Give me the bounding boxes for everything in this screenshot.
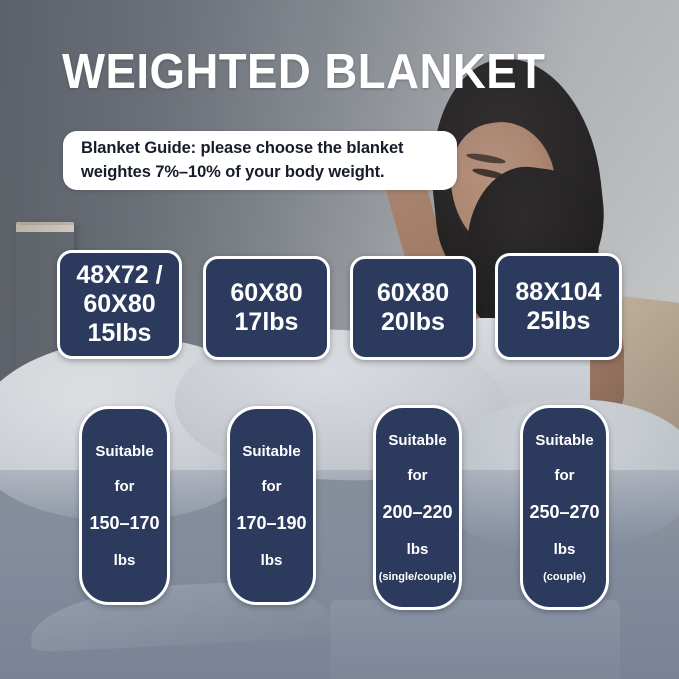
size-card-3: 60X80 20lbs: [350, 256, 476, 360]
size-card-1: 48X72 / 60X80 15lbs: [57, 250, 182, 359]
pill-2-range: 170–190: [236, 513, 306, 534]
pill-1-line1: Suitable: [95, 443, 153, 460]
pill-4-range: 250–270: [529, 502, 599, 523]
pill-3-line1: Suitable: [388, 432, 446, 449]
size-card-2-line2: 17lbs: [235, 308, 299, 337]
pill-1-range: 150–170: [89, 513, 159, 534]
blanket-guide-callout: Blanket Guide: please choose the blanket…: [63, 131, 457, 190]
pill-3-line2: for: [408, 467, 428, 484]
pill-4-unit: lbs: [554, 541, 576, 558]
size-card-2-line1: 60X80: [230, 279, 302, 308]
pill-1-unit: lbs: [114, 552, 136, 569]
suitability-pill-2: Suitable for 170–190 lbs: [227, 406, 316, 605]
pill-4-line1: Suitable: [535, 432, 593, 449]
size-card-1-line3: 15lbs: [88, 319, 152, 348]
size-card-1-line1: 48X72 /: [76, 261, 162, 290]
pill-3-unit: lbs: [407, 541, 429, 558]
size-card-1-line2: 60X80: [83, 290, 155, 319]
size-card-3-line2: 20lbs: [381, 308, 445, 337]
infographic-content: WEIGHTED BLANKET Blanket Guide: please c…: [0, 0, 679, 679]
size-card-4-line1: 88X104: [515, 278, 601, 307]
pill-3-range: 200–220: [382, 502, 452, 523]
product-infographic: WEIGHTED BLANKET Blanket Guide: please c…: [0, 0, 679, 679]
pill-2-line1: Suitable: [242, 443, 300, 460]
size-card-4-line2: 25lbs: [527, 307, 591, 336]
pill-4-line2: for: [555, 467, 575, 484]
pill-2-line2: for: [262, 478, 282, 495]
blanket-guide-text: Blanket Guide: please choose the blanket…: [63, 137, 457, 185]
pill-4-note: (couple): [543, 571, 586, 583]
pill-2-unit: lbs: [261, 552, 283, 569]
size-card-4: 88X104 25lbs: [495, 253, 622, 360]
suitability-pill-1: Suitable for 150–170 lbs: [79, 406, 170, 605]
suitability-pill-3: Suitable for 200–220 lbs (single/couple): [373, 405, 462, 610]
size-card-2: 60X80 17lbs: [203, 256, 330, 360]
suitability-pill-4: Suitable for 250–270 lbs (couple): [520, 405, 609, 610]
pill-1-line2: for: [115, 478, 135, 495]
pill-3-note: (single/couple): [379, 571, 457, 583]
size-card-3-line1: 60X80: [377, 279, 449, 308]
page-title: WEIGHTED BLANKET: [62, 48, 545, 97]
